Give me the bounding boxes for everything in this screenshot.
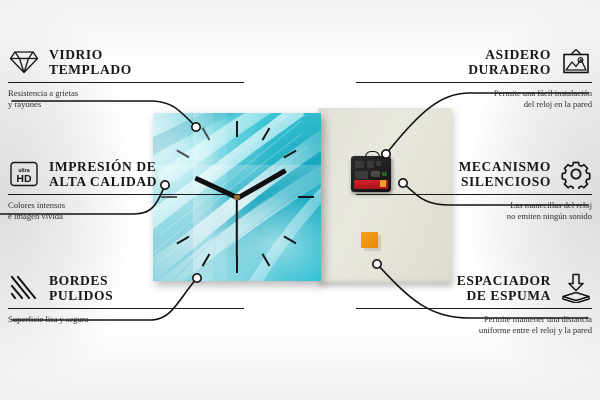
picture-frame-icon <box>560 46 592 78</box>
divider <box>356 308 592 309</box>
feature-subtitle: Superficie lisa y segura <box>8 314 244 325</box>
divider <box>8 308 244 309</box>
feature-bordes-pulidos: BORDES PULIDOS Superficie lisa y segura <box>8 272 244 325</box>
feature-title: VIDRIO TEMPLADO <box>49 47 132 78</box>
feature-title: ESPACIADOR DE ESPUMA <box>457 273 551 304</box>
foam-spacer-pad <box>361 232 378 248</box>
ultra-hd-icon: ultra HD <box>8 158 40 190</box>
divider <box>356 194 592 195</box>
feature-subtitle: Resistencia a grietas y rayones <box>8 88 244 109</box>
feature-title: BORDES PULIDOS <box>49 273 113 304</box>
feature-title: IMPRESIÓN DE ALTA CALIDAD <box>49 159 157 190</box>
feature-asidero-duradero: ASIDERO DURADERO Permite una fácil insta… <box>356 46 592 110</box>
infographic-canvas: VIDRIO TEMPLADO Resistencia a grietas y … <box>0 0 600 400</box>
feature-mecanismo-silencioso: MECANISMO SILENCIOSO Las manecillas del … <box>356 158 592 222</box>
feature-title: MECANISMO SILENCIOSO <box>459 159 551 190</box>
feature-espaciador-de-espuma: ESPACIADOR DE ESPUMA Permite mantener un… <box>356 272 592 336</box>
feature-subtitle: Permite una fácil instalación del reloj … <box>356 88 592 109</box>
tick-mark <box>298 196 314 198</box>
feature-subtitle: Las manecillas del reloj no emiten ningú… <box>356 200 592 221</box>
polished-edges-icon <box>8 272 40 304</box>
divider <box>8 194 244 195</box>
feature-impresion-alta-calidad: ultra HD IMPRESIÓN DE ALTA CALIDAD Color… <box>8 158 244 222</box>
divider <box>356 82 592 83</box>
svg-text:HD: HD <box>16 173 32 185</box>
tick-mark <box>236 121 238 137</box>
tick-mark <box>236 257 238 273</box>
feature-subtitle: Colores intensos e imagen vívida <box>8 200 244 221</box>
feature-title: ASIDERO DURADERO <box>468 47 551 78</box>
gear-icon <box>560 158 592 190</box>
diamond-icon <box>8 46 40 78</box>
feature-subtitle: Permite mantener una distancia uniforme … <box>356 314 592 335</box>
feature-vidrio-templado: VIDRIO TEMPLADO Resistencia a grietas y … <box>8 46 244 110</box>
foam-spacer-icon <box>560 272 592 304</box>
divider <box>8 82 244 83</box>
